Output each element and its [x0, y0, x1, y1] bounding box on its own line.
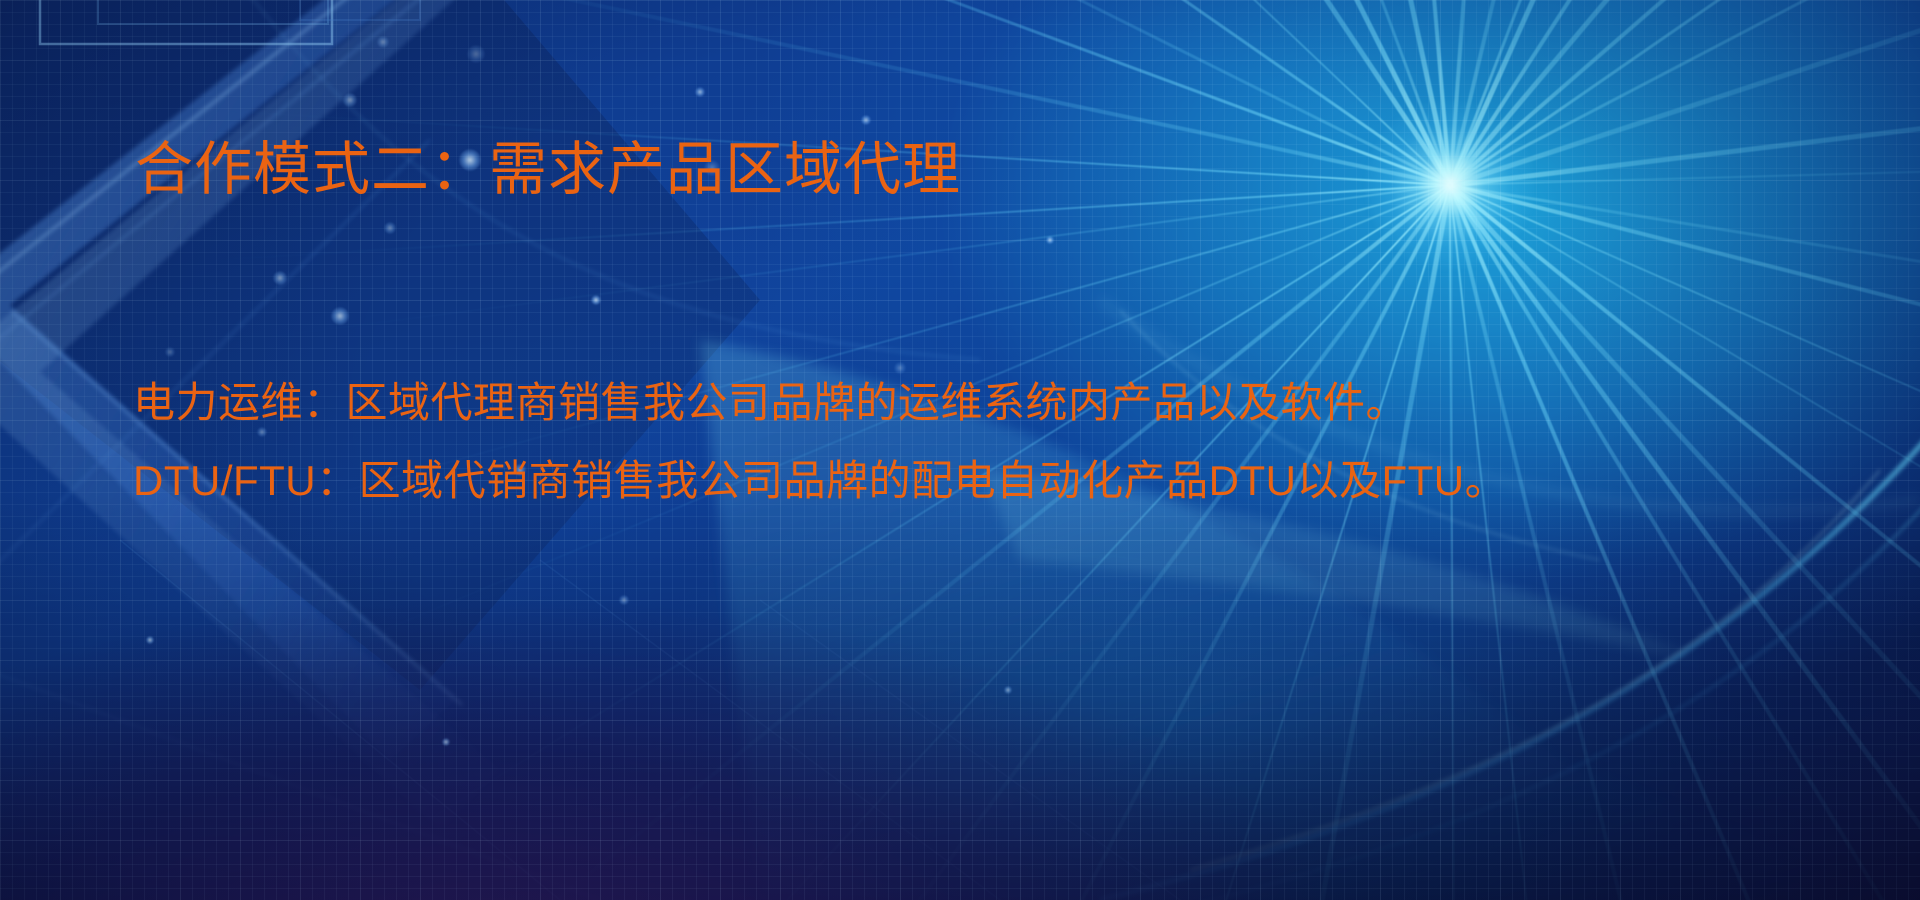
body-line-2: DTU/FTU：区域代销商销售我公司品牌的配电自动化产品DTU以及FTU。: [133, 442, 1833, 520]
presentation-slide: 合作模式二：需求产品区域代理 电力运维：区域代理商销售我公司品牌的运维系统内产品…: [0, 0, 1920, 900]
slide-title: 合作模式二：需求产品区域代理: [135, 136, 961, 204]
body-line-1: 电力运维：区域代理商销售我公司品牌的运维系统内产品以及软件。: [133, 364, 1833, 442]
slide-body: 电力运维：区域代理商销售我公司品牌的运维系统内产品以及软件。 DTU/FTU：区…: [133, 364, 1833, 520]
slide-content: 合作模式二：需求产品区域代理 电力运维：区域代理商销售我公司品牌的运维系统内产品…: [0, 0, 1920, 900]
